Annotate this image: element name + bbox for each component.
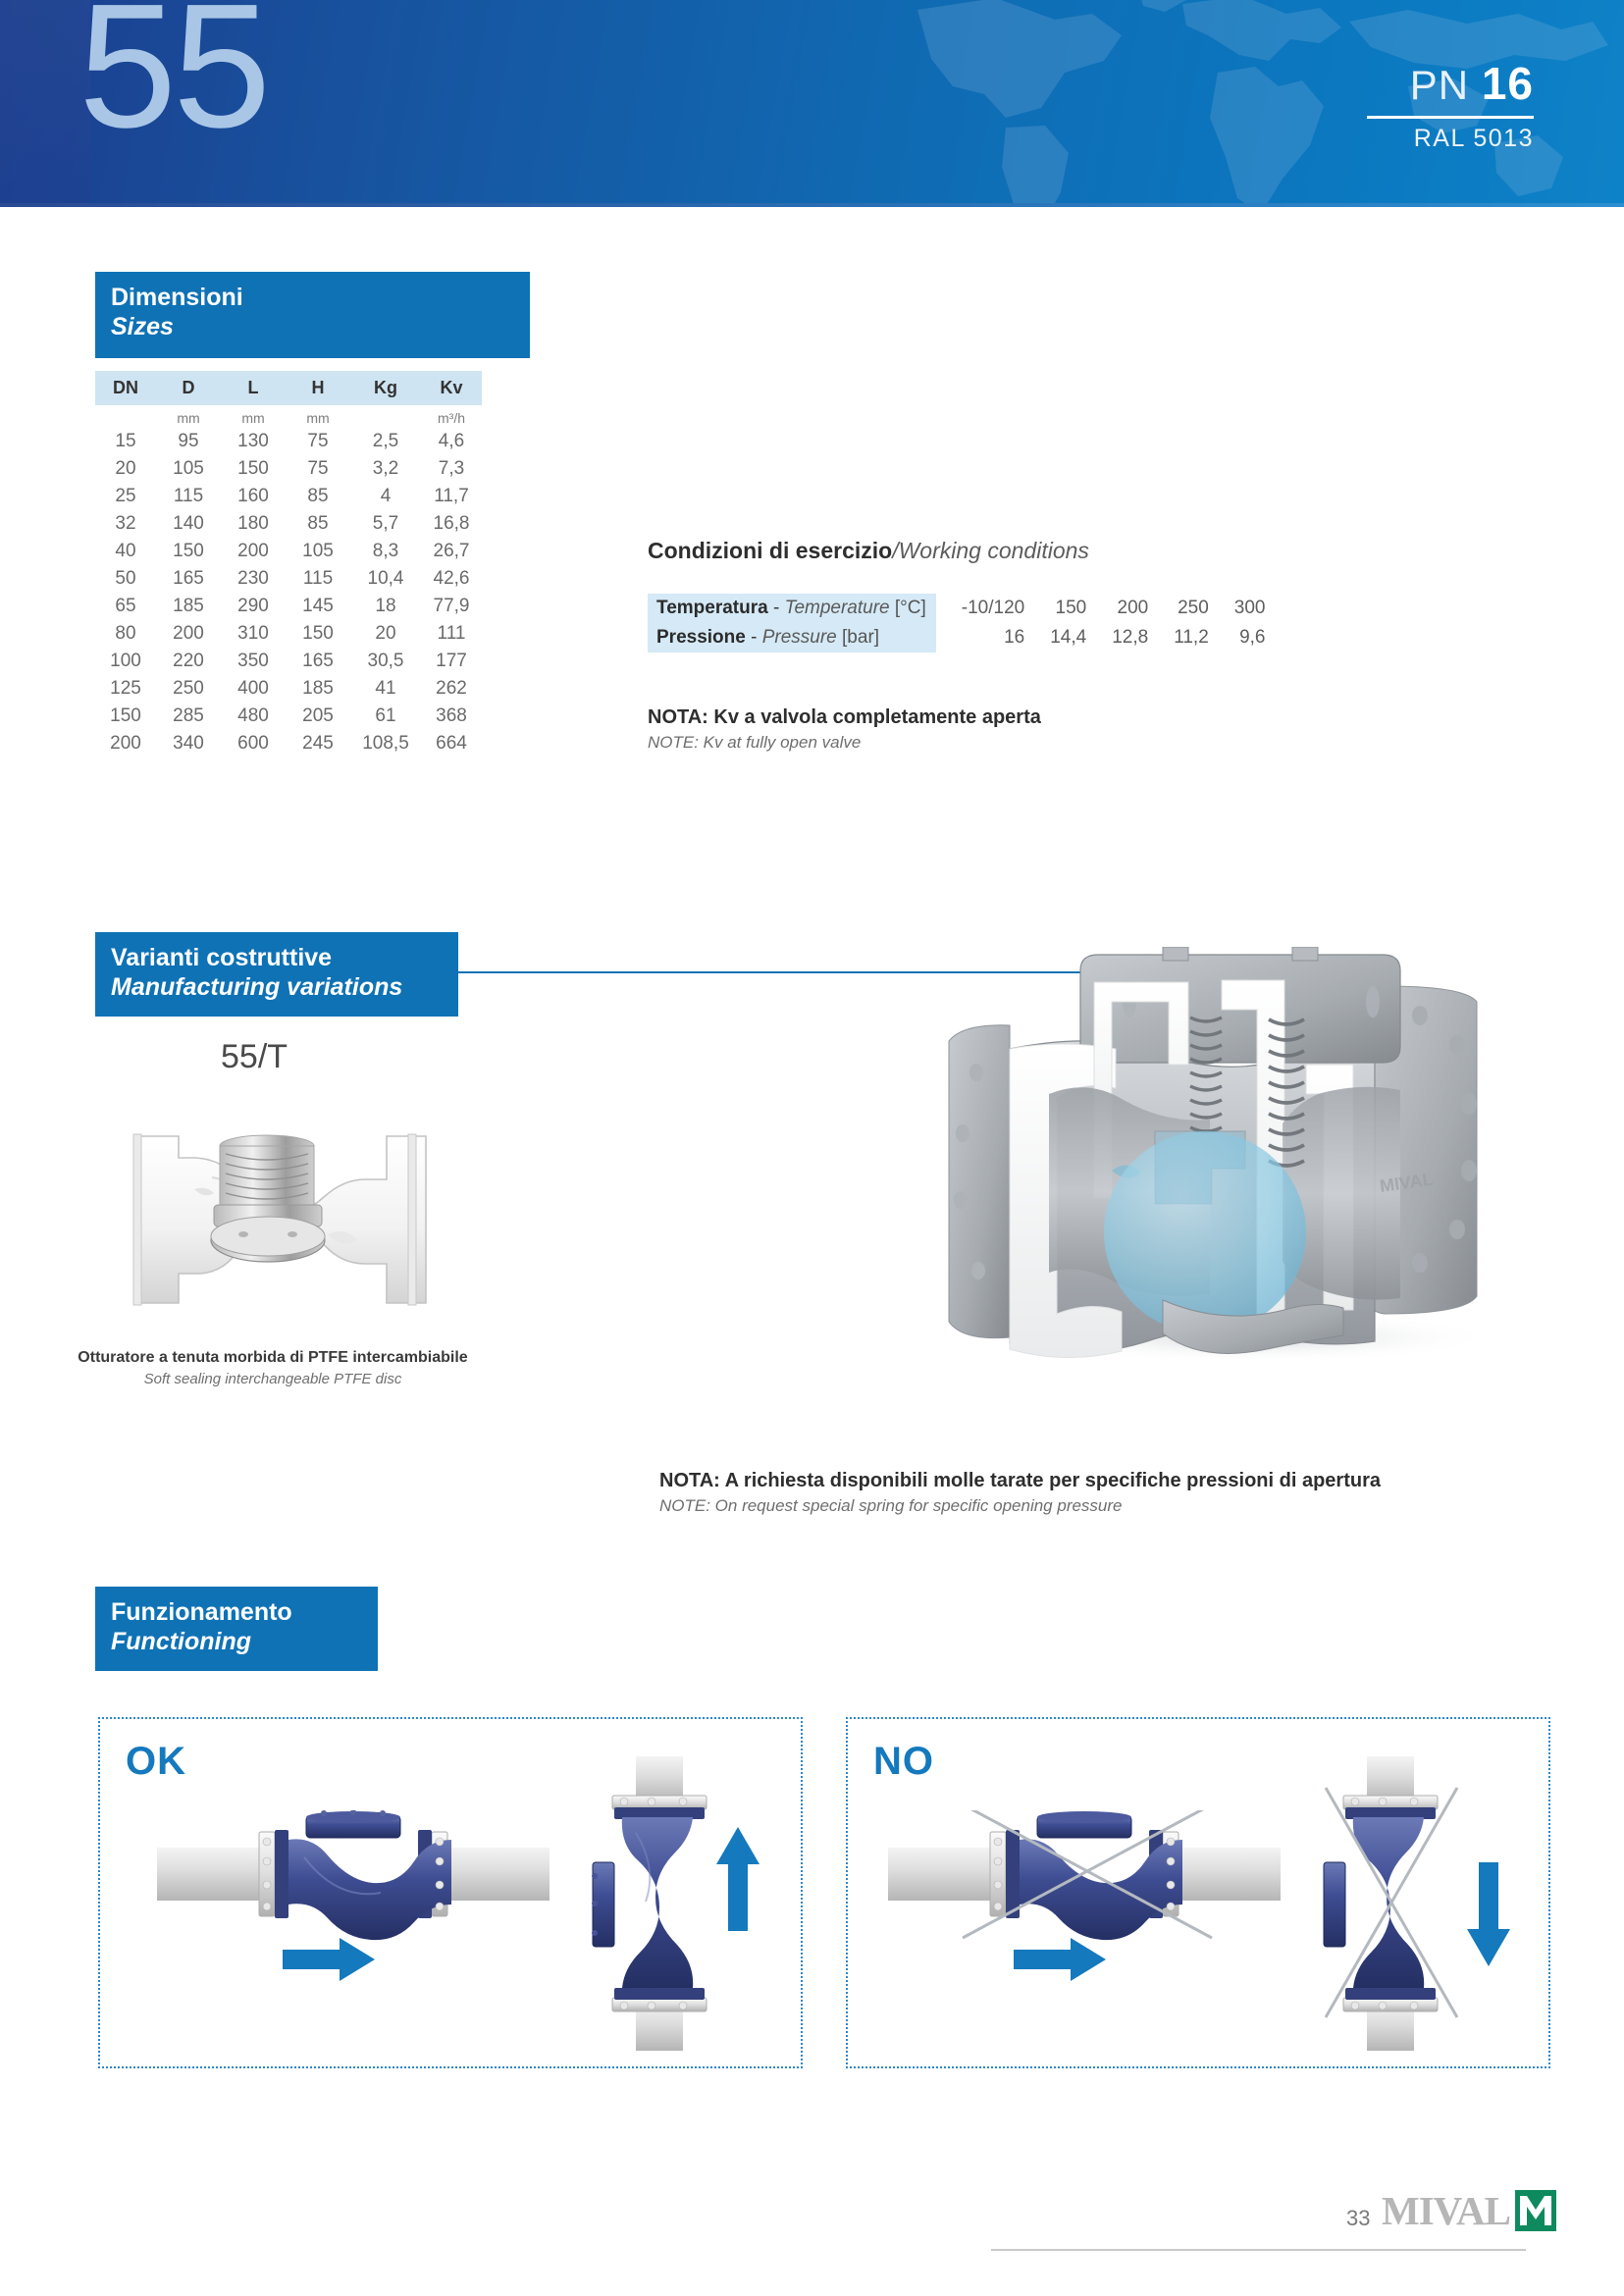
pressure-label-cell: Pressione - Pressure [bar] — [648, 623, 936, 652]
pn-row: PN 16 — [1367, 61, 1534, 108]
cell-h: 75 — [286, 455, 350, 483]
no-horizontal-valve-diagram — [888, 1810, 1281, 2036]
cell-kv: 26,7 — [421, 538, 482, 565]
table-row: 651852901451877,9 — [95, 593, 482, 620]
cell-d: 285 — [156, 703, 221, 730]
flow-arrow-down — [1467, 1862, 1510, 1966]
col-header-kg: Kg — [350, 371, 421, 405]
cell-h: 150 — [286, 620, 350, 648]
cell-d: 200 — [156, 620, 221, 648]
cell-l: 600 — [221, 730, 286, 757]
cell-dn: 25 — [95, 483, 156, 510]
cell-d: 340 — [156, 730, 221, 757]
cell-h: 115 — [286, 565, 350, 593]
cell-d: 95 — [156, 428, 221, 455]
banner-specs: PN 16 RAL 5013 — [1367, 61, 1534, 153]
table-row: 2511516085411,7 — [95, 483, 482, 510]
temperature-value: 200 — [1086, 594, 1148, 623]
temperature-dash: - — [773, 598, 779, 618]
section-header-sizes: Dimensioni Sizes — [95, 272, 530, 358]
temperature-row: Temperatura - Temperature [°C] -10/120 1… — [648, 594, 1265, 623]
cell-h: 245 — [286, 730, 350, 757]
section-header-functioning: Funzionamento Functioning — [95, 1587, 378, 1671]
ral-code: RAL 5013 — [1367, 125, 1534, 153]
cell-d: 165 — [156, 565, 221, 593]
flow-arrow-right — [283, 1938, 375, 1981]
variant-caption-it: Otturatore a tenuta morbida di PTFE inte… — [67, 1347, 479, 1369]
banner-bottom-rule — [0, 203, 1624, 207]
pressure-value: 16 — [936, 623, 1024, 652]
page-number: 33 — [1346, 2206, 1370, 2231]
cell-kg: 10,4 — [350, 565, 421, 593]
cell-dn: 40 — [95, 538, 156, 565]
temperature-value: 150 — [1024, 594, 1086, 623]
unit-l: mm — [221, 405, 286, 428]
col-header-l: L — [221, 371, 286, 405]
temperature-unit: [°C] — [895, 598, 926, 618]
cell-dn: 50 — [95, 565, 156, 593]
working-conditions-title: Condizioni di esercizio/Working conditio… — [648, 538, 1089, 564]
cell-kg: 2,5 — [350, 428, 421, 455]
cell-l: 480 — [221, 703, 286, 730]
section-title-functioning-en: Functioning — [111, 1627, 378, 1656]
cell-dn: 100 — [95, 648, 156, 675]
cell-kv: 7,3 — [421, 455, 482, 483]
wc-title-en: Working conditions — [899, 538, 1089, 563]
section-title-variants-en: Manufacturing variations — [111, 972, 458, 1002]
cell-kv: 77,9 — [421, 593, 482, 620]
temperature-label-it: Temperatura — [656, 598, 768, 618]
pn-label: PN — [1410, 62, 1469, 108]
cell-kv: 42,6 — [421, 565, 482, 593]
cell-kg: 61 — [350, 703, 421, 730]
mival-m-mark-icon — [1515, 2190, 1556, 2231]
cell-h: 85 — [286, 510, 350, 538]
cell-l: 350 — [221, 648, 286, 675]
pressure-value: 14,4 — [1024, 623, 1086, 652]
dimensions-table-body: mm mm mm m³/h 1595130752,54,6 2010515075… — [95, 405, 482, 757]
table-row: 8020031015020111 — [95, 620, 482, 648]
note-kv-it: NOTA: Kv a valvola completamente aperta — [648, 704, 1041, 731]
cell-kg: 18 — [350, 593, 421, 620]
note-kv: NOTA: Kv a valvola completamente aperta … — [648, 704, 1041, 755]
unit-h: mm — [286, 405, 350, 428]
note-spring-it: NOTA: A richiesta disponibili molle tara… — [659, 1468, 1381, 1494]
cell-l: 180 — [221, 510, 286, 538]
dimensions-table: DN D L H Kg Kv mm mm mm m³/h 1595130752,… — [95, 371, 482, 757]
pressure-value: 9,6 — [1209, 623, 1266, 652]
table-row: 401502001058,326,7 — [95, 538, 482, 565]
cell-kg: 5,7 — [350, 510, 421, 538]
temperature-label-en: Temperature — [785, 598, 890, 618]
pn-divider — [1367, 116, 1534, 119]
pressure-value: 11,2 — [1148, 623, 1209, 652]
pressure-dash: - — [751, 627, 757, 648]
cell-kv: 177 — [421, 648, 482, 675]
cell-d: 105 — [156, 455, 221, 483]
note-spring-en: NOTE: On request special spring for spec… — [659, 1494, 1381, 1518]
cell-h: 75 — [286, 428, 350, 455]
ok-horizontal-valve-diagram — [157, 1810, 550, 2036]
temperature-value: 300 — [1209, 594, 1266, 623]
cell-kv: 4,6 — [421, 428, 482, 455]
table-units-row: mm mm mm m³/h — [95, 405, 482, 428]
cell-dn: 20 — [95, 455, 156, 483]
cell-l: 230 — [221, 565, 286, 593]
cell-dn: 200 — [95, 730, 156, 757]
unit-kg — [350, 405, 421, 428]
pressure-label-en: Pressure — [762, 627, 837, 648]
cell-l: 200 — [221, 538, 286, 565]
pressure-row: Pressione - Pressure [bar] 16 14,4 12,8 … — [648, 623, 1265, 652]
brand-logo: MIVAL — [1382, 2190, 1556, 2231]
unit-dn — [95, 405, 156, 428]
cell-d: 150 — [156, 538, 221, 565]
pn-value: 16 — [1482, 58, 1534, 109]
pressure-value: 12,8 — [1086, 623, 1148, 652]
cell-kv: 16,8 — [421, 510, 482, 538]
cell-kg: 108,5 — [350, 730, 421, 757]
cell-l: 130 — [221, 428, 286, 455]
temperature-value: -10/120 — [936, 594, 1024, 623]
variant-caption-en: Soft sealing interchangeable PTFE disc — [67, 1369, 479, 1389]
cell-l: 310 — [221, 620, 286, 648]
note-spring: NOTA: A richiesta disponibili molle tara… — [659, 1468, 1381, 1518]
cell-d: 140 — [156, 510, 221, 538]
cell-l: 150 — [221, 455, 286, 483]
cell-dn: 125 — [95, 675, 156, 703]
table-row: 20105150753,27,3 — [95, 455, 482, 483]
cell-h: 205 — [286, 703, 350, 730]
cell-h: 185 — [286, 675, 350, 703]
cell-kg: 20 — [350, 620, 421, 648]
no-vertical-valve-diagram — [1320, 1756, 1526, 2051]
cell-kg: 3,2 — [350, 455, 421, 483]
table-row: 5016523011510,442,6 — [95, 565, 482, 593]
cell-d: 250 — [156, 675, 221, 703]
cell-d: 220 — [156, 648, 221, 675]
table-row: 15028548020561368 — [95, 703, 482, 730]
section-title-sizes-it: Dimensioni — [111, 284, 530, 312]
section-header-variants: Varianti costruttive Manufacturing varia… — [95, 932, 458, 1017]
cell-kv: 111 — [421, 620, 482, 648]
valve-variant-55t-illustration — [118, 1119, 432, 1320]
section-title-sizes-en: Sizes — [111, 312, 530, 341]
flow-arrow-up — [716, 1827, 760, 1931]
table-row: 12525040018541262 — [95, 675, 482, 703]
cell-h: 105 — [286, 538, 350, 565]
pressure-label-it: Pressione — [656, 627, 746, 648]
cell-kg: 41 — [350, 675, 421, 703]
note-kv-en: NOTE: Kv at fully open valve — [648, 731, 1041, 755]
cell-l: 400 — [221, 675, 286, 703]
footer-rule — [991, 2249, 1526, 2251]
col-header-dn: DN — [95, 371, 156, 405]
variant-caption: Otturatore a tenuta morbida di PTFE inte… — [67, 1347, 479, 1389]
cell-dn: 32 — [95, 510, 156, 538]
table-row: 32140180855,716,8 — [95, 510, 482, 538]
brand-name: MIVAL — [1382, 2191, 1510, 2231]
temperature-value: 250 — [1148, 594, 1209, 623]
unit-d: mm — [156, 405, 221, 428]
figure-number: 55 — [79, 0, 267, 155]
cell-kg: 30,5 — [350, 648, 421, 675]
flow-arrow-right — [1014, 1938, 1106, 1981]
cell-dn: 15 — [95, 428, 156, 455]
cell-kg: 4 — [350, 483, 421, 510]
col-header-kv: Kv — [421, 371, 482, 405]
cell-h: 165 — [286, 648, 350, 675]
working-conditions-table: Temperatura - Temperature [°C] -10/120 1… — [648, 594, 1265, 652]
cell-h: 145 — [286, 593, 350, 620]
cell-h: 85 — [286, 483, 350, 510]
section-title-functioning-it: Funzionamento — [111, 1598, 378, 1627]
cell-kv: 11,7 — [421, 483, 482, 510]
pressure-unit: [bar] — [842, 627, 879, 648]
variant-code: 55/T — [221, 1038, 288, 1076]
table-row: 1595130752,54,6 — [95, 428, 482, 455]
col-header-d: D — [156, 371, 221, 405]
wc-title-it: Condizioni di esercizio — [648, 538, 892, 563]
banner-left-edge — [0, 0, 90, 207]
cell-dn: 150 — [95, 703, 156, 730]
cell-dn: 80 — [95, 620, 156, 648]
cell-l: 290 — [221, 593, 286, 620]
ok-vertical-valve-diagram — [589, 1756, 775, 2051]
cell-kg: 8,3 — [350, 538, 421, 565]
cell-kv: 368 — [421, 703, 482, 730]
cell-kv: 262 — [421, 675, 482, 703]
section-title-variants-it: Varianti costruttive — [111, 944, 458, 972]
col-header-h: H — [286, 371, 350, 405]
cell-kv: 664 — [421, 730, 482, 757]
cell-d: 185 — [156, 593, 221, 620]
cell-dn: 65 — [95, 593, 156, 620]
functioning-ok-label: OK — [126, 1740, 186, 1784]
table-header-row: DN D L H Kg Kv — [95, 371, 482, 405]
valve-cutaway-illustration: MIVAL — [927, 947, 1565, 1359]
table-row: 200340600245108,5664 — [95, 730, 482, 757]
cell-d: 115 — [156, 483, 221, 510]
functioning-no-label: NO — [873, 1740, 934, 1784]
table-row: 10022035016530,5177 — [95, 648, 482, 675]
cell-l: 160 — [221, 483, 286, 510]
page-header-banner: 55 PN 16 RAL 5013 — [0, 0, 1624, 207]
temperature-label-cell: Temperatura - Temperature [°C] — [648, 594, 936, 623]
unit-kv: m³/h — [421, 405, 482, 428]
